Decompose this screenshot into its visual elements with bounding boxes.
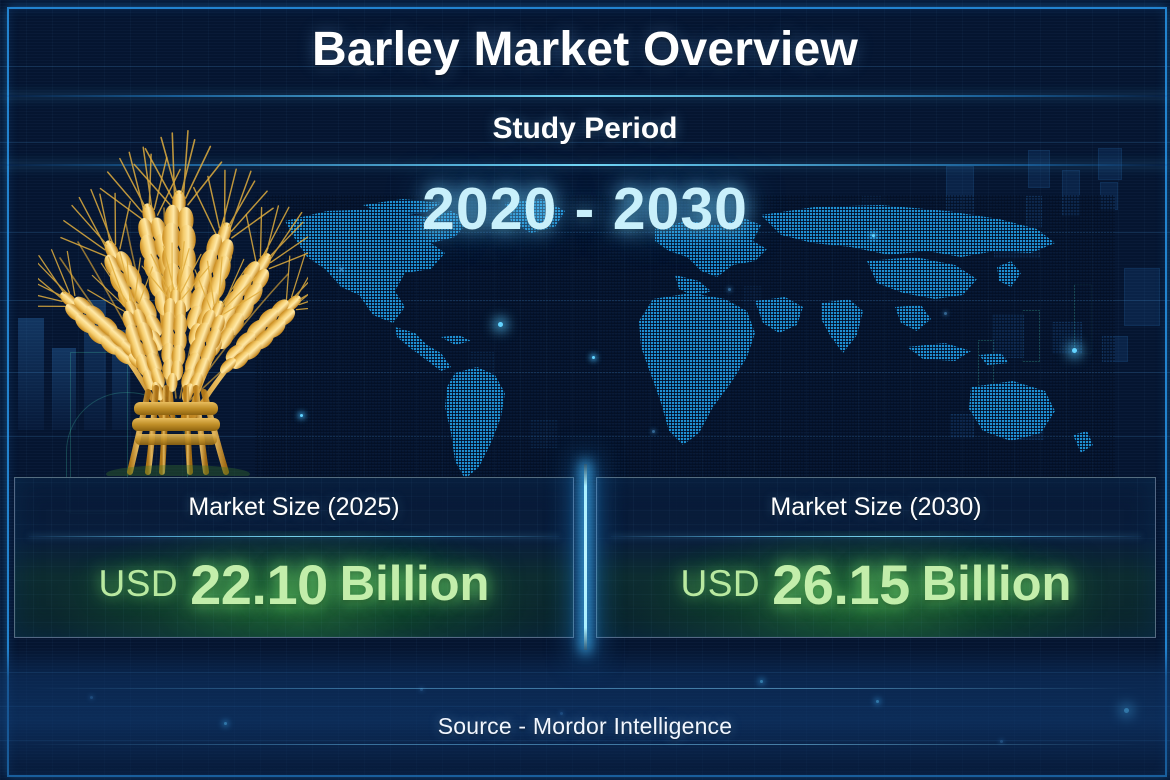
amount-value: 26.15: [772, 552, 910, 617]
page-title: Barley Market Overview: [0, 22, 1170, 77]
footer-rule-bottom: [28, 744, 1142, 745]
amount-value: 22.10: [190, 552, 328, 617]
market-size-2025-value: USD 22.10 Billion: [15, 537, 573, 637]
market-size-2025-panel: Market Size (2025) USD 22.10 Billion: [14, 477, 574, 638]
infographic-canvas: Barley Market Overview Study Period 2020…: [0, 0, 1170, 780]
panel-divider-glow: [584, 464, 587, 650]
market-size-2025-label: Market Size (2025): [15, 478, 573, 536]
unit-label: Billion: [340, 556, 490, 612]
currency-label: USD: [681, 563, 761, 605]
market-size-2030-panel: Market Size (2030) USD 26.15 Billion: [596, 477, 1156, 638]
market-size-2030-value: USD 26.15 Billion: [597, 537, 1155, 637]
footer-rule-top: [28, 688, 1142, 689]
wheat-sheaf-icon: [38, 96, 308, 476]
source-attribution: Source - Mordor Intelligence: [0, 713, 1170, 740]
unit-label: Billion: [922, 556, 1072, 612]
market-size-2030-label: Market Size (2030): [597, 478, 1155, 536]
currency-label: USD: [99, 563, 179, 605]
